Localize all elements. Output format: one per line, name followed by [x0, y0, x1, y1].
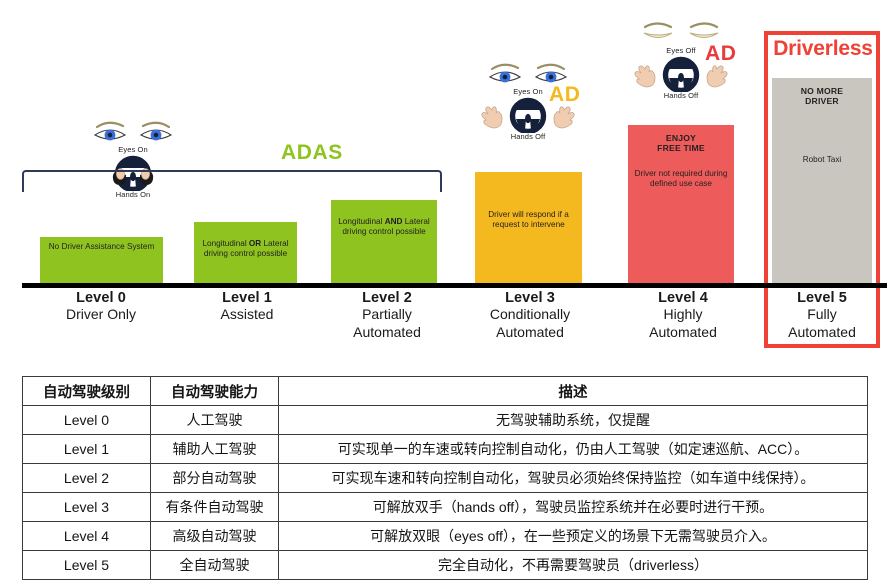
- table-cell-ability: 有条件自动驾驶: [151, 493, 279, 522]
- bar-level-4-gap: [633, 154, 729, 169]
- table-cell-desc: 可解放双手（hands off），驾驶员监控系统并在必要时进行干预。: [279, 493, 868, 522]
- bar-level-5-headline-1: NO MORE: [777, 86, 867, 96]
- table-cell-desc: 完全自动化，不再需要驾驶员（driverless）: [279, 551, 868, 580]
- table-row: Level 5 全自动驾驶 完全自动化，不再需要驾驶员（driverless）: [23, 551, 868, 580]
- ad-group-label-level-4: AD: [705, 42, 737, 66]
- table-header-row: 自动驾驶级别 自动驾驶能力 描述: [23, 377, 868, 406]
- table-row: Level 1 辅助人工驾驶 可实现单一的车速或转向控制自动化，仍由人工驾驶（如…: [23, 435, 868, 464]
- bar-level-4-text: Driver not required during defined use c…: [633, 169, 729, 189]
- level-caption-4-sub1: Highly: [608, 306, 758, 324]
- level-caption-2-name: Level 2: [312, 290, 462, 306]
- bar-level-1[interactable]: Longitudinal OR Lateral driving control …: [194, 222, 297, 283]
- bar-level-4-headline-2: FREE TIME: [633, 143, 729, 153]
- table-cell-level: Level 1: [23, 435, 151, 464]
- automation-levels-table: 自动驾驶级别 自动驾驶能力 描述 Level 0 人工驾驶 无驾驶辅助系统，仅提…: [22, 376, 868, 580]
- bar-level-3[interactable]: Driver will respond if a request to inte…: [475, 172, 582, 283]
- level-caption-5-sub1: Fully: [747, 306, 887, 324]
- table-cell-ability: 全自动驾驶: [151, 551, 279, 580]
- level-caption-4-sub2: Automated: [608, 324, 758, 342]
- level-caption-1: Level 1 Assisted: [172, 290, 322, 324]
- level-caption-0-name: Level 0: [26, 290, 176, 306]
- table-row: Level 0 人工驾驶 无驾驶辅助系统，仅提醒: [23, 406, 868, 435]
- level-caption-2: Level 2 Partially Automated: [312, 290, 462, 341]
- level-caption-3: Level 3 Conditionally Automated: [455, 290, 605, 341]
- table-cell-ability: 部分自动驾驶: [151, 464, 279, 493]
- level-caption-1-sub1: Assisted: [172, 306, 322, 324]
- table-row: Level 3 有条件自动驾驶 可解放双手（hands off），驾驶员监控系统…: [23, 493, 868, 522]
- table-cell-ability: 人工驾驶: [151, 406, 279, 435]
- level-caption-5-sub2: Automated: [747, 324, 887, 342]
- level-caption-5: Level 5 Fully Automated: [747, 290, 887, 341]
- level-caption-2-sub1: Partially: [312, 306, 462, 324]
- bar-level-3-text: Driver will respond if a request to inte…: [480, 210, 577, 230]
- table-cell-level: Level 3: [23, 493, 151, 522]
- bar-level-0-text: No Driver Assistance System: [45, 242, 158, 252]
- bar-level-5[interactable]: NO MORE DRIVER Robot Taxi: [772, 78, 872, 283]
- ad-group-label-level-3: AD: [549, 83, 581, 107]
- table-cell-level: Level 0: [23, 406, 151, 435]
- table-cell-level: Level 4: [23, 522, 151, 551]
- bar-level-5-text: Robot Taxi: [777, 155, 867, 165]
- bar-level-2[interactable]: Longitudinal AND Lateral driving control…: [331, 200, 437, 283]
- automation-levels-chart: Eyes On Hands On: [0, 0, 887, 360]
- bar-level-4[interactable]: ENJOY FREE TIME Driver not required duri…: [628, 125, 734, 283]
- level-caption-3-name: Level 3: [455, 290, 605, 306]
- table-cell-desc: 可实现单一的车速或转向控制自动化，仍由人工驾驶（如定速巡航、ACC）。: [279, 435, 868, 464]
- bar-level-5-headline-2: DRIVER: [777, 96, 867, 106]
- table-header-ability: 自动驾驶能力: [151, 377, 279, 406]
- table-cell-ability: 辅助人工驾驶: [151, 435, 279, 464]
- driverless-group-label: Driverless: [768, 37, 878, 61]
- adas-group-label: ADAS: [281, 141, 343, 165]
- bar-level-4-headline-1: ENJOY: [633, 133, 729, 143]
- bar-level-0[interactable]: No Driver Assistance System: [40, 237, 163, 283]
- table-header-level: 自动驾驶级别: [23, 377, 151, 406]
- hands-caption-level-4: Hands Off: [626, 91, 736, 100]
- table-cell-desc: 无驾驶辅助系统，仅提醒: [279, 406, 868, 435]
- bar-level-1-text: Longitudinal OR Lateral driving control …: [199, 239, 292, 259]
- level-caption-1-name: Level 1: [172, 290, 322, 306]
- table-cell-desc: 可实现车速和转向控制自动化，驾驶员必须始终保持监控（如车道中线保持）。: [279, 464, 868, 493]
- hands-caption-level-3: Hands Off: [473, 132, 583, 141]
- level-caption-3-sub1: Conditionally: [455, 306, 605, 324]
- table-cell-level: Level 2: [23, 464, 151, 493]
- level-caption-0-sub1: Driver Only: [26, 306, 176, 324]
- table-cell-ability: 高级自动驾驶: [151, 522, 279, 551]
- table-row: Level 2 部分自动驾驶 可实现车速和转向控制自动化，驾驶员必须始终保持监控…: [23, 464, 868, 493]
- table-cell-level: Level 5: [23, 551, 151, 580]
- eyes-open-icon: [78, 118, 188, 144]
- automation-levels-table-wrap: 自动驾驶级别 自动驾驶能力 描述 Level 0 人工驾驶 无驾驶辅助系统，仅提…: [22, 376, 867, 580]
- level-caption-4: Level 4 Highly Automated: [608, 290, 758, 341]
- level-caption-5-name: Level 5: [747, 290, 887, 306]
- eyes-caption-level-0: Eyes On: [78, 145, 188, 154]
- level-caption-4-name: Level 4: [608, 290, 758, 306]
- bar-level-2-text: Longitudinal AND Lateral driving control…: [336, 217, 432, 237]
- level-caption-2-sub2: Automated: [312, 324, 462, 342]
- table-row: Level 4 高级自动驾驶 可解放双眼（eyes off），在一些预定义的场景…: [23, 522, 868, 551]
- table-header-desc: 描述: [279, 377, 868, 406]
- bar-level-5-gap: [777, 107, 867, 155]
- table-cell-desc: 可解放双眼（eyes off），在一些预定义的场景下无需驾驶员介入。: [279, 522, 868, 551]
- level-caption-0: Level 0 Driver Only: [26, 290, 176, 324]
- adas-bracket: [22, 170, 442, 192]
- level-caption-3-sub2: Automated: [455, 324, 605, 342]
- chart-axis-line: [22, 283, 887, 288]
